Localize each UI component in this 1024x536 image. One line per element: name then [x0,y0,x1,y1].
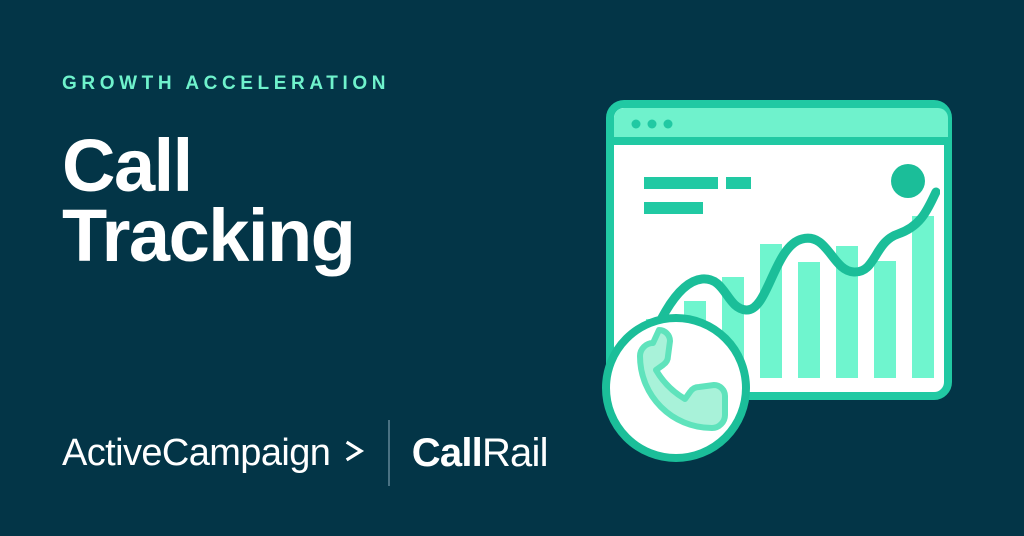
chart-bar-7 [874,261,896,378]
callrail-logo[interactable]: CallRail [412,433,548,473]
page-title: Call Tracking [62,131,562,272]
logo-lockup: ActiveCampaign CallRail [62,420,548,486]
placeholder-bar-long [644,177,718,189]
titlebar-underline [614,137,948,145]
callrail-wordmark-bold: Call [412,431,482,475]
trend-endpoint-dot [891,164,925,198]
placeholder-bar-medium [644,202,703,214]
phone-call-badge [606,318,746,458]
page-title-line-2: Tracking [62,201,562,271]
chart-bar-5 [798,262,820,378]
window-dot-3 [664,120,673,129]
activecampaign-logo[interactable]: ActiveCampaign [62,433,368,473]
eyebrow-label: GROWTH ACCELERATION [62,74,562,93]
promo-banner: GROWTH ACCELERATION Call Tracking Active… [0,0,1024,536]
logo-divider [388,420,390,486]
page-title-line-1: Call [62,131,562,201]
chart-bar-8 [912,216,934,378]
window-dot-2 [648,120,657,129]
activecampaign-wordmark: ActiveCampaign [62,434,330,472]
window-dot-1 [632,120,641,129]
text-column: GROWTH ACCELERATION Call Tracking [62,74,562,272]
chevron-right-icon [342,433,368,471]
placeholder-bar-short [726,177,751,189]
call-analytics-dashboard-illustration [536,96,956,476]
